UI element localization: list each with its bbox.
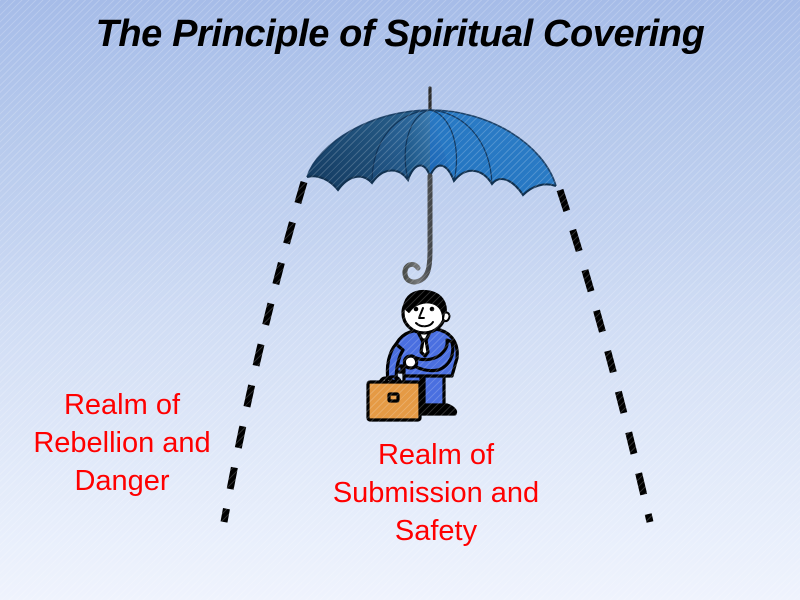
- umbrella-handle: [405, 176, 430, 282]
- label-realm-submission-safety: Realm of Submission and Safety: [295, 436, 577, 550]
- briefcase-icon: [368, 377, 420, 420]
- umbrella-icon: [307, 88, 556, 282]
- slide-canvas: The Principle of Spiritual Covering Real…: [0, 0, 800, 600]
- page-title: The Principle of Spiritual Covering: [0, 14, 800, 56]
- label-realm-rebellion-danger: Realm of Rebellion and Danger: [6, 386, 238, 500]
- umbrella-canopy: [307, 110, 556, 195]
- businessman-figure: [368, 291, 457, 420]
